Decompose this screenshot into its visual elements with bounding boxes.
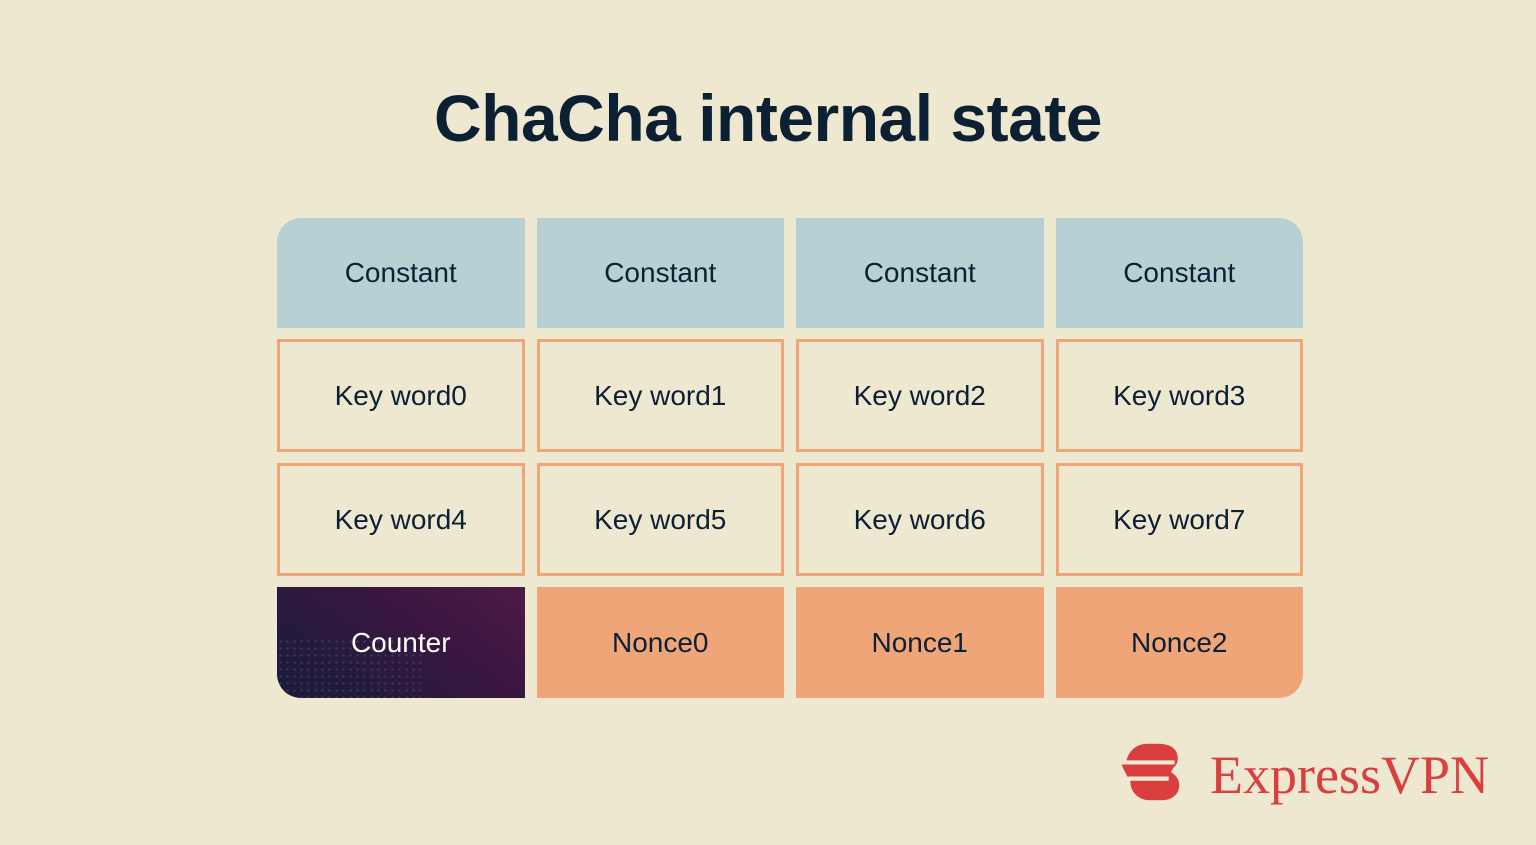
expressvpn-e-logo-icon — [1120, 738, 1194, 812]
state-cell-key-word0: Key word0 — [277, 339, 525, 452]
state-cell-counter: Counter — [277, 587, 525, 698]
state-cell-key-word6: Key word6 — [796, 463, 1044, 576]
cell-label: Key word2 — [854, 380, 986, 412]
state-cell-nonce0: Nonce0 — [537, 587, 785, 698]
state-cell-key-word3: Key word3 — [1056, 339, 1304, 452]
state-cell-key-word7: Key word7 — [1056, 463, 1304, 576]
cell-label: Key word0 — [335, 380, 467, 412]
cell-label: Key word7 — [1113, 504, 1245, 536]
state-cell-constant-0: Constant — [277, 218, 525, 328]
cell-label: Constant — [1123, 257, 1235, 289]
slide-canvas: ChaCha internal state Constant Constant … — [0, 0, 1536, 845]
state-cell-key-word4: Key word4 — [277, 463, 525, 576]
cell-label: Key word6 — [854, 504, 986, 536]
cell-label: Constant — [864, 257, 976, 289]
cell-label: Constant — [604, 257, 716, 289]
cell-label: Nonce0 — [612, 627, 709, 659]
state-cell-constant-2: Constant — [796, 218, 1044, 328]
state-cell-key-word5: Key word5 — [537, 463, 785, 576]
expressvpn-wordmark: ExpressVPN — [1210, 748, 1489, 802]
state-cell-key-word1: Key word1 — [537, 339, 785, 452]
state-cell-nonce1: Nonce1 — [796, 587, 1044, 698]
expressvpn-logo: ExpressVPN — [1120, 738, 1489, 812]
cell-label: Nonce2 — [1131, 627, 1228, 659]
chacha-state-grid: Constant Constant Constant Constant Key … — [277, 218, 1303, 699]
state-cell-nonce2: Nonce2 — [1056, 587, 1304, 698]
state-cell-constant-3: Constant — [1056, 218, 1304, 328]
cell-label: Key word4 — [335, 504, 467, 536]
cell-label: Key word1 — [594, 380, 726, 412]
page-title: ChaCha internal state — [0, 84, 1536, 153]
cell-label: Constant — [345, 257, 457, 289]
state-cell-key-word2: Key word2 — [796, 339, 1044, 452]
cell-label: Counter — [351, 627, 451, 659]
cell-label: Key word3 — [1113, 380, 1245, 412]
cell-label: Nonce1 — [871, 627, 968, 659]
state-cell-constant-1: Constant — [537, 218, 785, 328]
cell-label: Key word5 — [594, 504, 726, 536]
